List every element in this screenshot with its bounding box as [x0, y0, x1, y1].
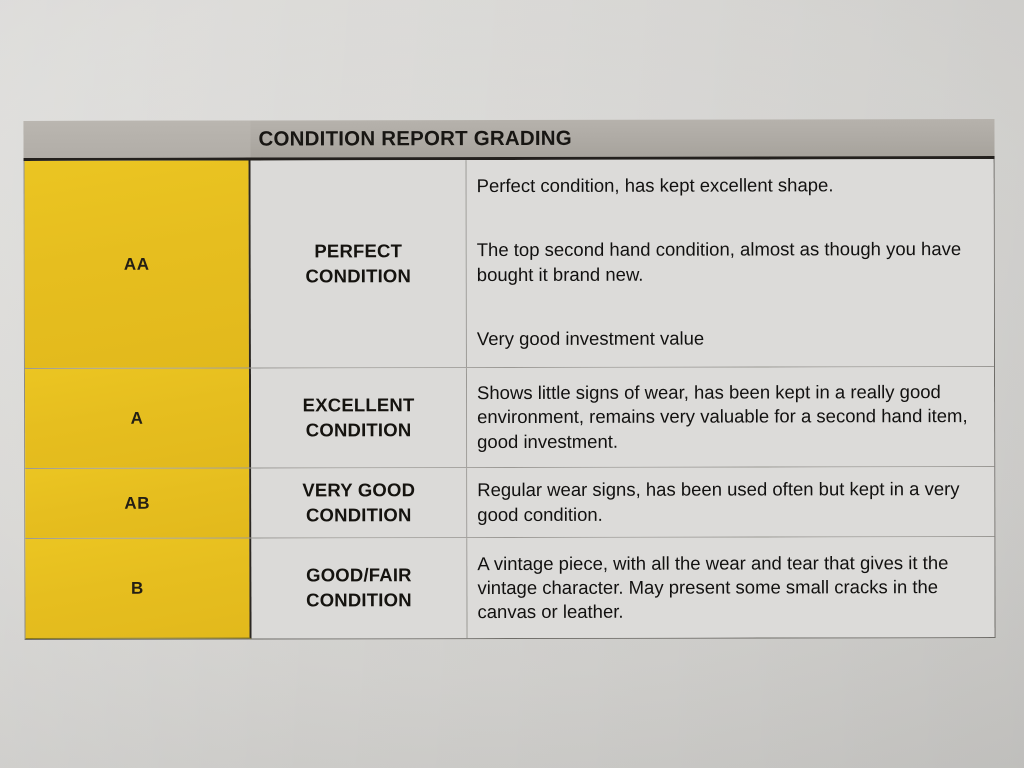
- grade-name-cell: EXCELLENT CONDITION: [251, 368, 467, 467]
- description-paragraph: The top second hand condition, almost as…: [477, 237, 980, 286]
- grade-name-cell: PERFECT CONDITION: [251, 160, 467, 367]
- grade-code-cell: B: [25, 539, 251, 639]
- grade-description-cell: Regular wear signs, has been used often …: [467, 467, 994, 537]
- grade-name-line-1: EXCELLENT: [303, 393, 415, 418]
- table-row: B GOOD/FAIR CONDITION A vintage piece, w…: [25, 537, 994, 639]
- grade-code-cell: A: [25, 369, 251, 468]
- description-paragraph: Perfect condition, has kept excellent sh…: [477, 173, 980, 198]
- table-header-spacer: [23, 121, 250, 158]
- table-title: CONDITION REPORT GRADING: [250, 126, 572, 151]
- table-row: AA PERFECT CONDITION Perfect condition, …: [25, 159, 994, 369]
- grade-name-line-1: GOOD/FAIR: [306, 564, 412, 589]
- grade-name-line-1: PERFECT: [314, 239, 402, 264]
- grade-code-label: B: [131, 578, 144, 598]
- grade-code-cell: AA: [25, 161, 251, 368]
- grade-code-label: AB: [124, 493, 150, 513]
- grade-name-cell: GOOD/FAIR CONDITION: [251, 538, 467, 638]
- description-paragraph: Regular wear signs, has been used often …: [477, 477, 980, 526]
- grade-code-label: A: [131, 408, 144, 428]
- grade-description-cell: Perfect condition, has kept excellent sh…: [467, 159, 994, 367]
- grade-name-line-2: CONDITION: [306, 588, 412, 613]
- grade-name-line-2: CONDITION: [305, 264, 411, 289]
- table-body: AA PERFECT CONDITION Perfect condition, …: [24, 159, 996, 640]
- description-paragraph: Very good investment value: [477, 326, 980, 351]
- grade-name-cell: VERY GOOD CONDITION: [251, 468, 467, 537]
- description-paragraph: Shows little signs of wear, has been kep…: [477, 380, 980, 453]
- grade-name-line-2: CONDITION: [306, 503, 412, 528]
- condition-report-grading-table: CONDITION REPORT GRADING AA PERFECT COND…: [23, 119, 995, 640]
- table-row: AB VERY GOOD CONDITION Regular wear sign…: [25, 467, 994, 539]
- grade-description-cell: A vintage piece, with all the wear and t…: [467, 537, 994, 638]
- description-paragraph: A vintage piece, with all the wear and t…: [477, 551, 980, 624]
- grade-code-cell: AB: [25, 469, 251, 538]
- table-row: A EXCELLENT CONDITION Shows little signs…: [25, 367, 994, 469]
- grade-name-line-2: CONDITION: [306, 418, 412, 443]
- table-header-band: CONDITION REPORT GRADING: [23, 119, 994, 161]
- grade-description-cell: Shows little signs of wear, has been kep…: [467, 367, 994, 467]
- grade-name-line-1: VERY GOOD: [302, 478, 415, 503]
- grade-code-label: AA: [124, 254, 150, 274]
